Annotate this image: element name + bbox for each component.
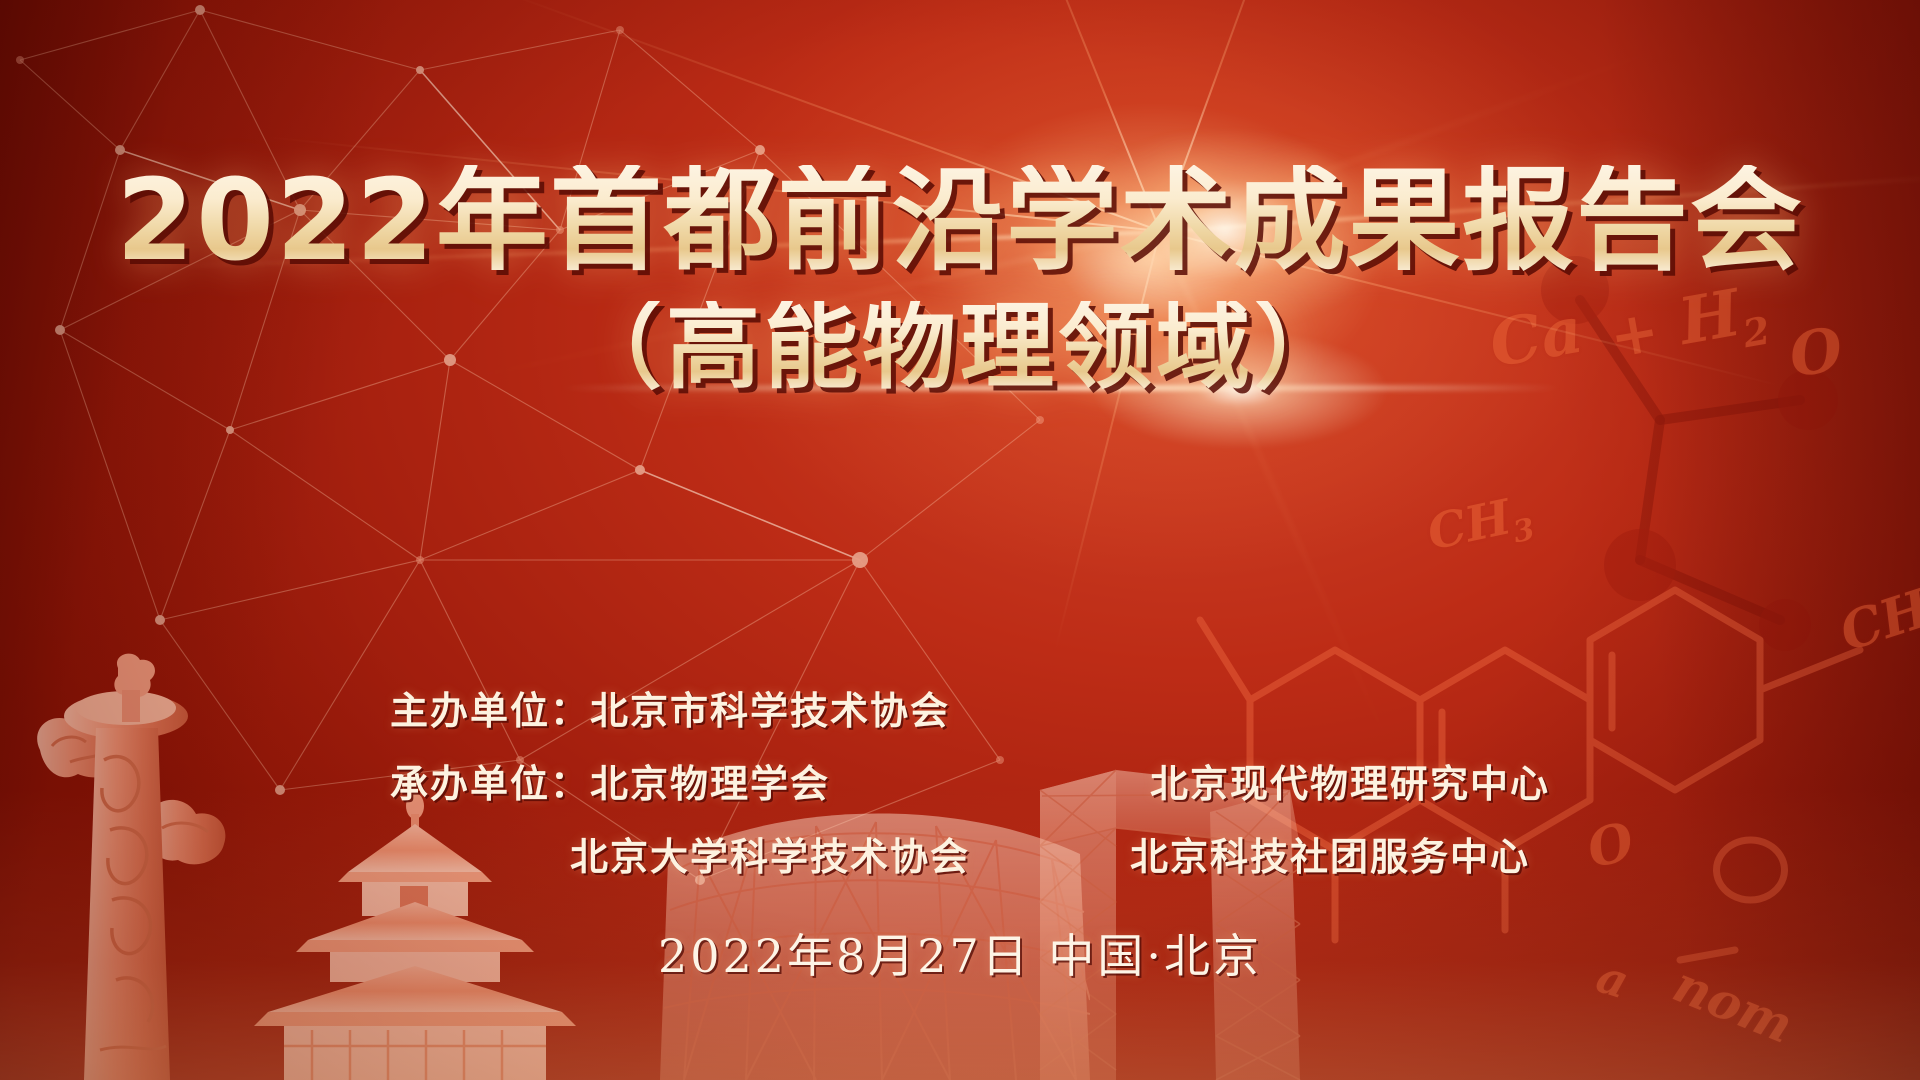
organizer-name-primary: 北京物理学会: [590, 753, 1150, 808]
organizer-label: 承办单位：: [390, 753, 590, 808]
organizer-block: 主办单位： 北京市科学技术协会 承办单位： 北京物理学会 北京现代物理研究中心 …: [0, 680, 1920, 899]
date-location-line: 2022年8月27日 中国·北京: [0, 920, 1920, 986]
poster-title: 2022年首都前沿学术成果报告会: [0, 165, 1920, 277]
poster-stage: Ca + H2 O CH3 CH O a nom: [0, 0, 1920, 1080]
organizer-row: 承办单位： 北京物理学会 北京现代物理研究中心: [0, 753, 1920, 808]
poster-content: 2022年首都前沿学术成果报告会 （高能物理领域） 主办单位： 北京市科学技术协…: [0, 0, 1920, 1080]
organizer-row: 北京大学科学技术协会 北京科技社团服务中心: [0, 826, 1920, 881]
organizer-name-secondary: 北京现代物理研究中心: [1150, 753, 1550, 808]
organizer-name-primary: 北京市科学技术协会: [590, 680, 1150, 735]
poster-subtitle: （高能物理领域）: [0, 301, 1920, 395]
organizer-name-primary: 北京大学科学技术协会: [570, 826, 1130, 881]
organizer-row: 主办单位： 北京市科学技术协会: [0, 680, 1920, 735]
title-block: 2022年首都前沿学术成果报告会 （高能物理领域）: [0, 165, 1920, 395]
organizer-label: 主办单位：: [390, 680, 590, 735]
organizer-name-secondary: 北京科技社团服务中心: [1130, 826, 1530, 881]
